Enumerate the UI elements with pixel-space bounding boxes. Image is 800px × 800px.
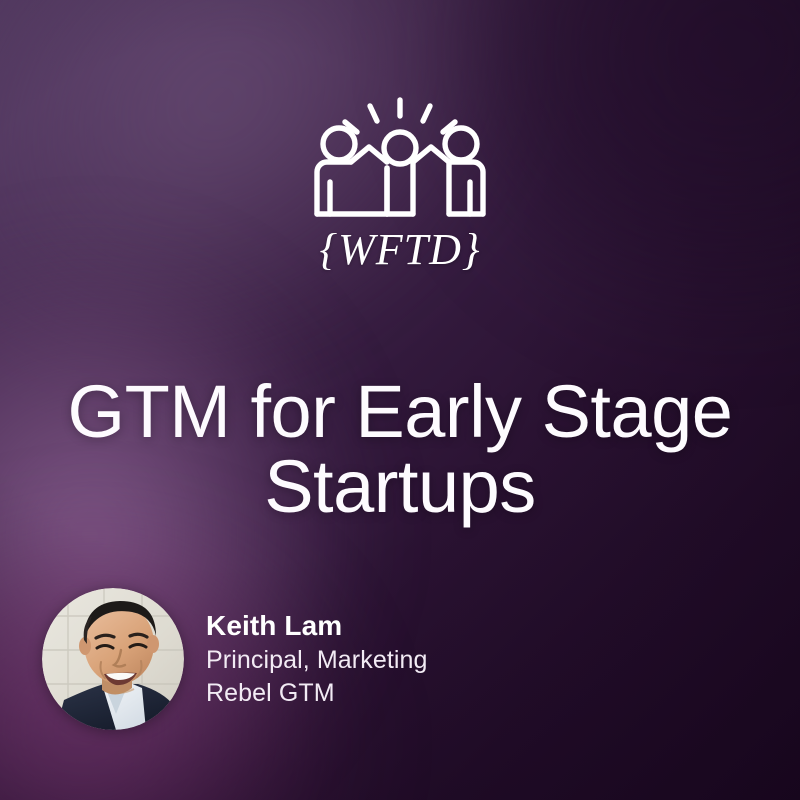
speaker-details: Keith Lam Principal, Marketing Rebel GTM — [206, 608, 428, 710]
slide-title-line-2: Startups — [40, 449, 760, 524]
speaker-role: Principal, Marketing — [206, 644, 428, 677]
speaker-name: Keith Lam — [206, 608, 428, 644]
speaker-block: Keith Lam Principal, Marketing Rebel GTM — [42, 588, 428, 730]
brand-logo: {WFTD} — [0, 96, 800, 272]
slide-content: {WFTD} GTM for Early Stage Startups — [0, 0, 800, 800]
slide-title: GTM for Early Stage Startups — [40, 374, 760, 525]
speaker-organization: Rebel GTM — [206, 677, 428, 710]
slide-title-line-1: GTM for Early Stage — [40, 374, 760, 449]
three-people-celebration-icon — [305, 96, 495, 218]
brand-wordmark: {WFTD} — [320, 228, 481, 272]
speaker-avatar — [42, 588, 184, 730]
presentation-slide: {WFTD} GTM for Early Stage Startups — [0, 0, 800, 800]
